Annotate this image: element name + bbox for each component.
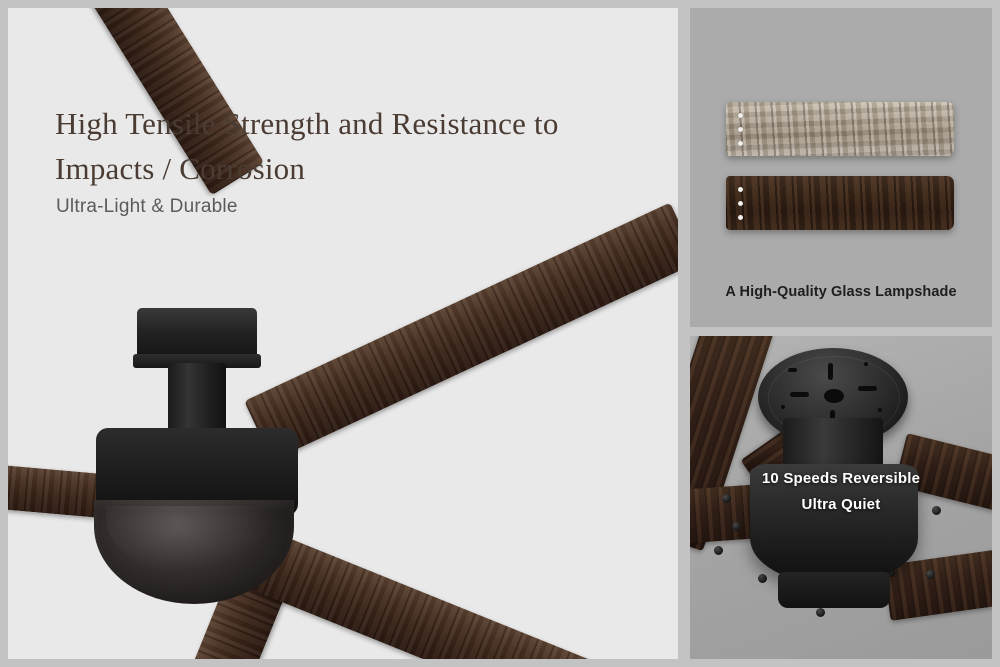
fan-blade-lower-right <box>246 530 668 659</box>
fan-downrod <box>168 363 226 433</box>
screw-icon <box>738 127 743 132</box>
screw-icon <box>738 141 743 146</box>
blade-bolt <box>732 522 741 531</box>
page-title: High Tensile Strength and Resistance to … <box>55 102 655 192</box>
screw-icon <box>738 201 743 206</box>
motor-base <box>778 572 890 608</box>
screw-icon <box>738 215 743 220</box>
screw-icon <box>738 113 743 118</box>
lampshade-caption: A High-Quality Glass Lampshade <box>690 284 992 300</box>
mounting-plate-slot <box>790 392 809 397</box>
mounting-plate-slot <box>858 386 877 391</box>
blade-bolt <box>932 506 941 515</box>
mounting-plate-pin-hole <box>864 362 868 366</box>
mounting-plate-slot <box>828 363 833 380</box>
fan-blade-right <box>244 202 678 460</box>
blade-bolt <box>714 546 723 555</box>
blade-bolt <box>816 608 825 617</box>
blade-bolt <box>926 570 935 579</box>
screw-icon <box>738 187 743 192</box>
mounting-plate-pin-hole <box>788 368 797 372</box>
mounting-plate-pin-hole <box>781 405 785 409</box>
page-subtitle: Ultra-Light & Durable <box>56 196 238 218</box>
mounting-plate-pin-hole <box>878 408 882 412</box>
blade-sample-light-wood <box>726 102 954 156</box>
mounting-plate-center-hole <box>824 389 844 403</box>
blade-bolt <box>758 574 767 583</box>
main-hero-panel: High Tensile Strength and Resistance to … <box>8 8 678 659</box>
motor-detail-panel: 10 Speeds Reversible Ultra Quiet <box>690 336 992 659</box>
blade-bolt <box>722 494 731 503</box>
fan-canopy <box>137 308 257 360</box>
motor-bell-housing <box>750 464 918 584</box>
blade-sample-dark-walnut <box>726 176 954 230</box>
blade-samples-panel: A High-Quality Glass Lampshade <box>690 8 992 327</box>
product-feature-collage: High Tensile Strength and Resistance to … <box>0 0 1000 667</box>
